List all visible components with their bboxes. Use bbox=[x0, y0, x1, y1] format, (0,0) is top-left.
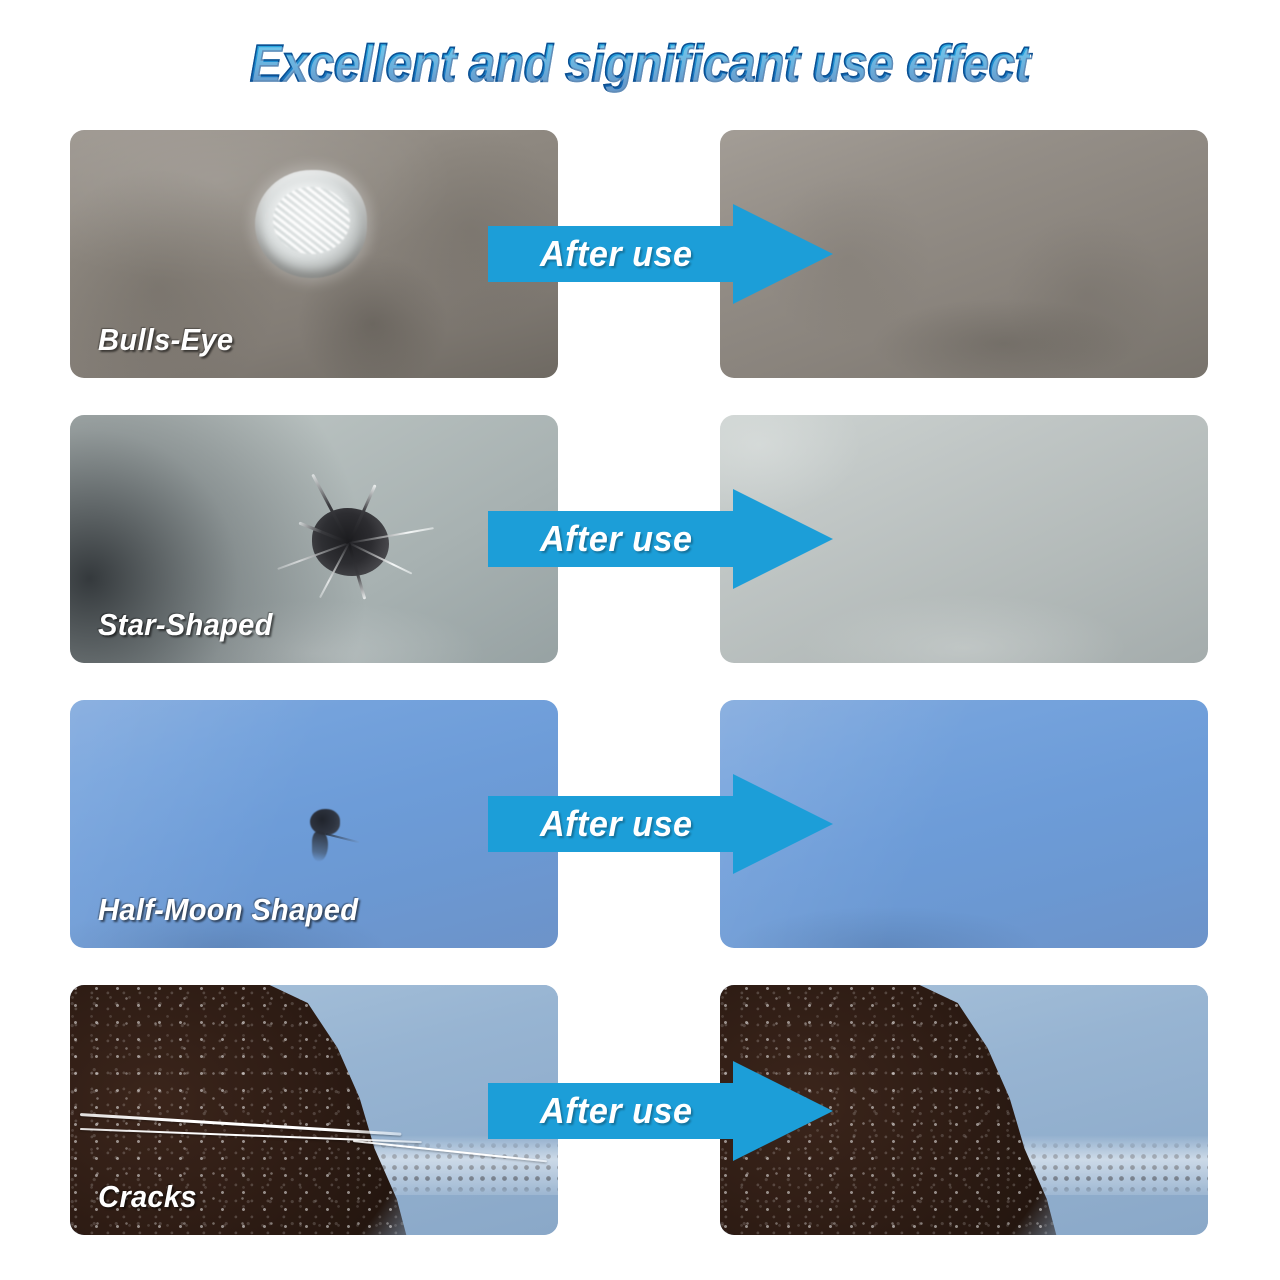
before-panel-half-moon-shaped: Half-Moon Shaped bbox=[70, 700, 558, 948]
caption-bulls-eye: Bulls-Eye bbox=[98, 322, 233, 358]
caption-half-moon-shaped: Half-Moon Shaped bbox=[98, 892, 358, 928]
title-bar: Excellent and significant use effect bbox=[0, 34, 1280, 94]
half-moon-chip-blob bbox=[310, 809, 340, 835]
caption-cracks: Cracks bbox=[98, 1179, 197, 1215]
damage-bulls-eye-chip-icon bbox=[255, 170, 367, 278]
half-moon-chip-whisker bbox=[326, 833, 359, 843]
arrow-label-row-3: After use bbox=[540, 770, 693, 878]
comparison-row-half-moon-shaped: Half-Moon Shaped After use bbox=[0, 700, 1280, 948]
half-moon-chip-tail bbox=[312, 831, 328, 861]
arrow-label-row-2: After use bbox=[540, 485, 693, 593]
damage-star-crack-icon bbox=[265, 482, 433, 602]
star-crack-ray bbox=[349, 527, 434, 544]
star-crack-ray bbox=[348, 543, 366, 599]
after-use-arrow-row-2: After use bbox=[488, 485, 833, 593]
after-use-arrow-row-1: After use bbox=[488, 200, 833, 308]
arrow-label-row-4: After use bbox=[540, 1057, 693, 1165]
star-crack-ray bbox=[311, 474, 350, 544]
damage-half-moon-chip-icon bbox=[304, 809, 350, 865]
star-crack-core bbox=[312, 508, 389, 575]
before-panel-bulls-eye: Bulls-Eye bbox=[70, 130, 558, 378]
after-use-arrow-row-3: After use bbox=[488, 770, 833, 878]
before-panel-star-shaped: Star-Shaped bbox=[70, 415, 558, 663]
star-crack-ray bbox=[299, 522, 350, 545]
page-title: Excellent and significant use effect bbox=[250, 34, 1030, 94]
caption-star-shaped: Star-Shaped bbox=[98, 607, 273, 643]
star-crack-ray bbox=[349, 542, 413, 574]
star-crack-ray bbox=[277, 542, 349, 570]
before-panel-cracks: Cracks bbox=[70, 985, 558, 1235]
comparison-row-star-shaped: Star-Shaped After use bbox=[0, 415, 1280, 663]
arrow-label-row-1: After use bbox=[540, 200, 693, 308]
comparison-row-bulls-eye: Bulls-Eye After use bbox=[0, 130, 1280, 378]
after-use-arrow-row-4: After use bbox=[488, 1057, 833, 1165]
comparison-row-cracks: Cracks After use bbox=[0, 985, 1280, 1235]
star-crack-ray bbox=[348, 484, 376, 544]
star-crack-ray bbox=[319, 542, 350, 598]
